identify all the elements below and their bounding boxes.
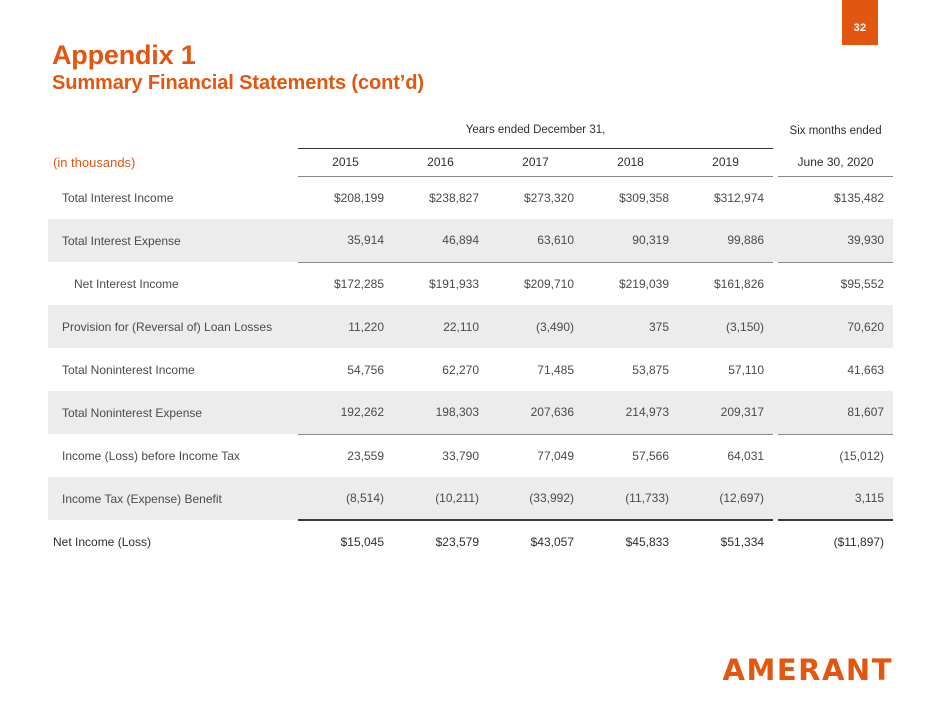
row-value: (12,697) (678, 477, 773, 520)
table-row: Income Tax (Expense) Benefit (8,514) (10… (48, 477, 893, 520)
row-value: 46,894 (393, 219, 488, 262)
page-number: 32 (854, 22, 867, 34)
row-value: $15,045 (298, 520, 393, 563)
row-value: 41,663 (778, 348, 893, 391)
column-header-2015: 2015 (298, 148, 393, 176)
row-value: (33,992) (488, 477, 583, 520)
group-header-years: Years ended December 31, (298, 118, 773, 148)
row-value: $219,039 (583, 262, 678, 305)
row-value: $135,482 (778, 176, 893, 219)
group-header-row: Years ended December 31, Six months ende… (48, 118, 893, 148)
row-label: Total Interest Income (48, 176, 298, 219)
title-main: Appendix 1 (52, 40, 424, 70)
table-row: Total Noninterest Income 54,756 62,270 7… (48, 348, 893, 391)
row-value: (11,733) (583, 477, 678, 520)
table-body: Total Interest Income $208,199 $238,827 … (48, 176, 893, 563)
row-label: Provision for (Reversal of) Loan Losses (48, 305, 298, 348)
group-header-spacer (48, 118, 298, 148)
column-header-row: (in thousands) 2015 2016 2017 2018 2019 … (48, 148, 893, 176)
row-value: 57,566 (583, 434, 678, 477)
row-value: 35,914 (298, 219, 393, 262)
row-value: $45,833 (583, 520, 678, 563)
row-label: Total Noninterest Expense (48, 391, 298, 434)
row-value: 90,319 (583, 219, 678, 262)
row-value: 62,270 (393, 348, 488, 391)
row-value: $309,358 (583, 176, 678, 219)
table-row: Net Interest Income $172,285 $191,933 $2… (48, 262, 893, 305)
row-value: 3,115 (778, 477, 893, 520)
page-number-badge: 32 (842, 0, 878, 45)
row-label: Total Noninterest Income (48, 348, 298, 391)
group-header-six-months: Six months ended (778, 118, 893, 148)
table-row: Total Interest Expense 35,914 46,894 63,… (48, 219, 893, 262)
row-value: $273,320 (488, 176, 583, 219)
row-value: 209,317 (678, 391, 773, 434)
row-value: $43,057 (488, 520, 583, 563)
row-value: $191,933 (393, 262, 488, 305)
column-header-june-2020: June 30, 2020 (778, 148, 893, 176)
row-value: $312,974 (678, 176, 773, 219)
table-header: Years ended December 31, Six months ende… (48, 118, 893, 176)
row-value: 11,220 (298, 305, 393, 348)
row-label: Income Tax (Expense) Benefit (48, 477, 298, 520)
row-value: $172,285 (298, 262, 393, 305)
table-row-total: Net Income (Loss) $15,045 $23,579 $43,05… (48, 520, 893, 563)
table-row: Provision for (Reversal of) Loan Losses … (48, 305, 893, 348)
row-value: 198,303 (393, 391, 488, 434)
row-value: (8,514) (298, 477, 393, 520)
row-value: 64,031 (678, 434, 773, 477)
row-value: 39,930 (778, 219, 893, 262)
row-value: 99,886 (678, 219, 773, 262)
row-value: ($11,897) (778, 520, 893, 563)
row-value: 63,610 (488, 219, 583, 262)
row-value: 207,636 (488, 391, 583, 434)
column-header-2016: 2016 (393, 148, 488, 176)
row-value: 71,485 (488, 348, 583, 391)
table-row: Total Interest Income $208,199 $238,827 … (48, 176, 893, 219)
column-header-2019: 2019 (678, 148, 773, 176)
row-value: (3,150) (678, 305, 773, 348)
financial-statements-table: Years ended December 31, Six months ende… (48, 118, 893, 563)
row-value: 33,790 (393, 434, 488, 477)
row-value: $23,579 (393, 520, 488, 563)
row-value: $51,334 (678, 520, 773, 563)
row-value: 22,110 (393, 305, 488, 348)
row-label: Net Interest Income (48, 262, 298, 305)
row-value: 23,559 (298, 434, 393, 477)
row-value: 57,110 (678, 348, 773, 391)
table-row: Total Noninterest Expense 192,262 198,30… (48, 391, 893, 434)
row-value: (10,211) (393, 477, 488, 520)
row-value: 81,607 (778, 391, 893, 434)
column-header-2017: 2017 (488, 148, 583, 176)
amerant-logo: AMERANT (723, 653, 893, 687)
unit-label: (in thousands) (48, 148, 298, 176)
row-value: 54,756 (298, 348, 393, 391)
row-value: 77,049 (488, 434, 583, 477)
row-value: (15,012) (778, 434, 893, 477)
row-value: $95,552 (778, 262, 893, 305)
row-label: Net Income (Loss) (48, 520, 298, 563)
title-subtitle: Summary Financial Statements (cont’d) (52, 70, 424, 96)
row-label: Total Interest Expense (48, 219, 298, 262)
page-title: Appendix 1 Summary Financial Statements … (52, 40, 424, 96)
row-value: $161,826 (678, 262, 773, 305)
column-header-2018: 2018 (583, 148, 678, 176)
row-value: $208,199 (298, 176, 393, 219)
row-value: $209,710 (488, 262, 583, 305)
row-label: Income (Loss) before Income Tax (48, 434, 298, 477)
row-value: 375 (583, 305, 678, 348)
table-row: Income (Loss) before Income Tax 23,559 3… (48, 434, 893, 477)
row-value: (3,490) (488, 305, 583, 348)
row-value: 53,875 (583, 348, 678, 391)
row-value: 70,620 (778, 305, 893, 348)
row-value: 192,262 (298, 391, 393, 434)
row-value: $238,827 (393, 176, 488, 219)
row-value: 214,973 (583, 391, 678, 434)
